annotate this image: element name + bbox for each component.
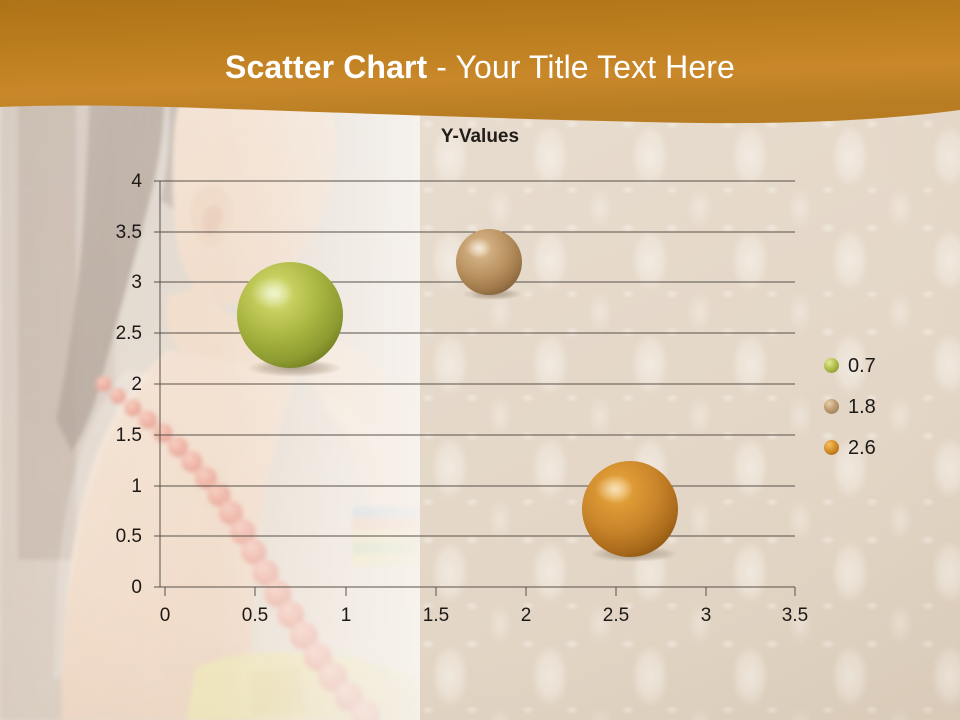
y-tick-label-0.5: 0.5 [96,526,142,548]
x-tick-label-0.5: 0.5 [225,605,285,627]
data-point-0.7 [237,262,343,377]
x-tick-label-3.5: 3.5 [765,605,825,627]
y-tick-label-3: 3 [96,272,142,294]
legend-marker-icon [824,399,839,414]
y-tick-label-3.5: 3.5 [96,222,142,244]
y-tick-label-1: 1 [96,476,142,498]
x-tick-label-2: 2 [496,605,556,627]
x-tick-label-1: 1 [316,605,376,627]
legend-item-1[interactable]: 1.8 [824,386,944,427]
y-tick-label-1.5: 1.5 [96,425,142,447]
data-point-1.8 [456,229,522,300]
y-tick-label-0: 0 [96,577,142,599]
y-tick-label-4: 4 [96,171,142,193]
legend-marker-icon [824,440,839,455]
legend-item-2[interactable]: 2.6 [824,427,944,468]
legend-label-0: 0.7 [848,356,876,376]
x-ticks [165,587,795,596]
x-tick-label-1.5: 1.5 [406,605,466,627]
legend-item-0[interactable]: 0.7 [824,345,944,386]
slide-canvas: Scatter Chart - Your Title Text Here Y-V… [0,0,960,720]
legend-label-1: 1.8 [848,397,876,417]
data-point-2.6 [582,461,678,562]
legend-label-2: 2.6 [848,438,876,458]
x-tick-label-3: 3 [676,605,736,627]
x-tick-label-2.5: 2.5 [586,605,646,627]
legend-marker-icon [824,358,839,373]
y-tick-label-2: 2 [96,374,142,396]
y-ticks [154,181,160,587]
x-tick-label-0: 0 [135,605,195,627]
y-tick-label-2.5: 2.5 [96,323,142,345]
chart-legend: 0.7 1.8 2.6 [824,345,944,468]
